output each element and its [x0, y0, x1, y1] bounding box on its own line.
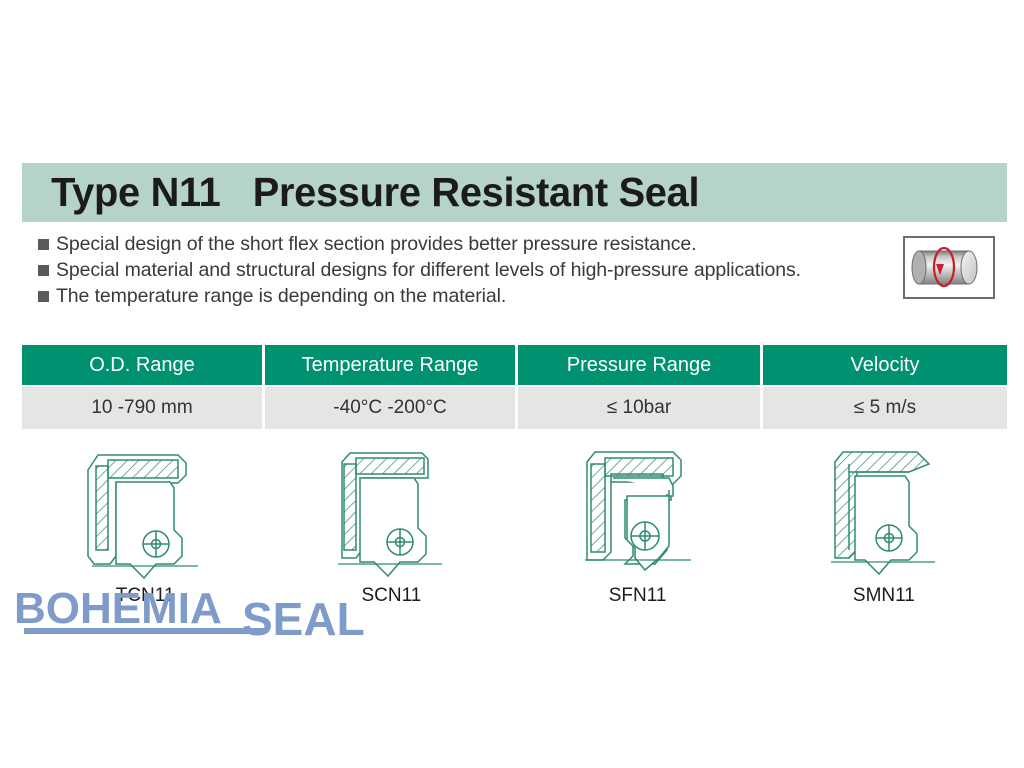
- seal-diagram-scn11: SCN11: [268, 438, 514, 618]
- specification-table: O.D. Range Temperature Range Pressure Ra…: [22, 345, 1007, 429]
- feature-item-text: The temperature range is depending on th…: [56, 284, 506, 309]
- feature-list: Special design of the short flex section…: [38, 232, 886, 310]
- square-bullet-icon: [38, 291, 49, 302]
- seal-diagram-smn11: SMN11: [761, 438, 1007, 618]
- seal-diagram-sfn11: SFN11: [515, 438, 761, 618]
- page-title: Type N11 Pressure Resistant Seal: [22, 169, 699, 216]
- table-header-row: O.D. Range Temperature Range Pressure Ra…: [22, 345, 1007, 385]
- value-pressure-range: ≤ 10bar: [518, 387, 763, 429]
- title-banner: Type N11 Pressure Resistant Seal: [22, 163, 1007, 222]
- tcn11-cross-section-icon: [70, 438, 220, 583]
- sfn11-cross-section-icon: [563, 438, 713, 583]
- seal-label-smn11: SMN11: [853, 585, 915, 607]
- seal-diagram-row: TCN11: [22, 438, 1007, 618]
- column-header-od-range: O.D. Range: [22, 345, 265, 385]
- table-value-row: 10 -790 mm -40°C -200°C ≤ 10bar ≤ 5 m/s: [22, 387, 1007, 429]
- smn11-cross-section-icon: [809, 438, 959, 583]
- feature-item-text: Special design of the short flex section…: [56, 232, 696, 257]
- seal-diagram-tcn11: TCN11: [22, 438, 268, 618]
- feature-item-text: Special material and structural designs …: [56, 258, 801, 283]
- product-datasheet-page: Type N11 Pressure Resistant Seal Special…: [0, 0, 1024, 768]
- rotating-shaft-icon: [903, 236, 995, 299]
- value-velocity: ≤ 5 m/s: [763, 387, 1007, 429]
- value-temperature-range: -40°C -200°C: [265, 387, 518, 429]
- column-header-velocity: Velocity: [763, 345, 1007, 385]
- column-header-pressure-range: Pressure Range: [518, 345, 763, 385]
- seal-label-sfn11: SFN11: [609, 585, 667, 607]
- scn11-cross-section-icon: [316, 438, 466, 583]
- seal-label-tcn11: TCN11: [116, 585, 175, 607]
- feature-item: Special design of the short flex section…: [38, 232, 886, 257]
- square-bullet-icon: [38, 265, 49, 276]
- square-bullet-icon: [38, 239, 49, 250]
- seal-label-scn11: SCN11: [361, 585, 421, 607]
- value-od-range: 10 -790 mm: [22, 387, 265, 429]
- column-header-temperature-range: Temperature Range: [265, 345, 518, 385]
- feature-item: Special material and structural designs …: [38, 258, 886, 283]
- feature-item: The temperature range is depending on th…: [38, 284, 886, 309]
